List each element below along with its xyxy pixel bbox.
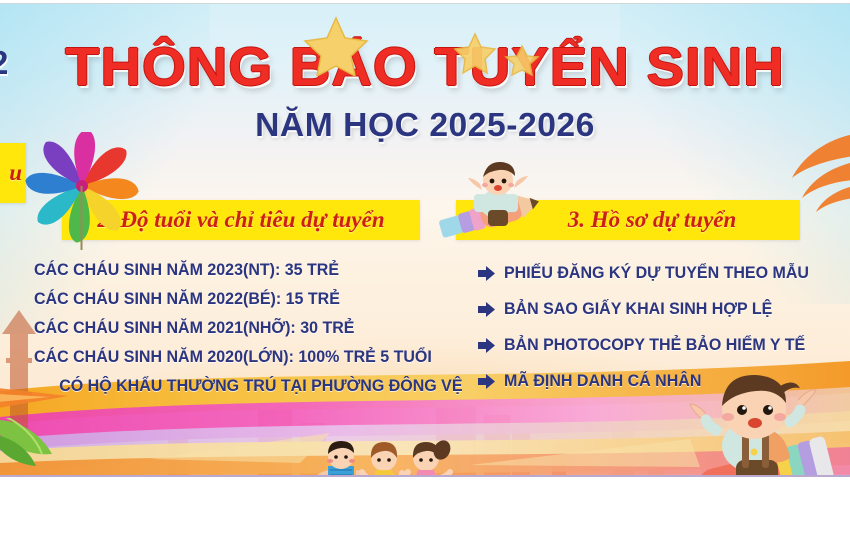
section-banner-documents: 3. Hồ sơ dự tuyển — [456, 200, 800, 240]
list-item: PHIẾU ĐĂNG KÝ DỰ TUYỂN THEO MẪU — [478, 258, 850, 289]
age-quota-line: CÁC CHÁU SINH NĂM 2020(LỚN): 100% TRẺ 5 … — [34, 343, 441, 372]
section-banner-1-label: u — [9, 160, 26, 186]
age-quota-line: CÁC CHÁU SINH NĂM 2021(NHỠ): 30 TRẺ — [34, 314, 441, 343]
section-banner-3-label: 3. Hồ sơ dự tuyển — [520, 207, 737, 233]
top-divider — [0, 3, 850, 4]
page-title: THÔNG BÁO TUYỂN SINH — [0, 40, 850, 94]
section-banner-1-cut: u — [0, 143, 26, 203]
age-quota-line: CÓ HỘ KHẨU THƯỜNG TRÚ TẠI PHƯỜNG ĐÔNG VỆ — [34, 372, 441, 401]
age-quota-line: CÁC CHÁU SINH NĂM 2023(NT): 35 TRẺ — [34, 256, 441, 285]
list-item-label: MÃ ĐỊNH DANH CÁ NHÂN — [504, 366, 701, 397]
section-banner-age-quota: 2. Độ tuổi và chỉ tiêu dự tuyển — [62, 200, 420, 240]
documents-list: PHIẾU ĐĂNG KÝ DỰ TUYỂN THEO MẪU BẢN SAO … — [478, 258, 850, 402]
page-subtitle: NĂM HỌC 2025-2026 — [0, 106, 850, 144]
list-item: BẢN PHOTOCOPY THẺ BẢO HIỂM Y TẾ — [478, 330, 850, 361]
arrow-right-icon — [478, 338, 495, 353]
list-item-label: PHIẾU ĐĂNG KÝ DỰ TUYỂN THEO MẪU — [504, 258, 809, 289]
arrow-right-icon — [478, 266, 495, 281]
list-item: MÃ ĐỊNH DANH CÁ NHÂN — [478, 366, 850, 397]
age-quota-list: CÁC CHÁU SINH NĂM 2023(NT): 35 TRẺ CÁC C… — [34, 256, 454, 401]
list-item-label: BẢN PHOTOCOPY THẺ BẢO HIỂM Y TẾ — [504, 330, 805, 361]
list-item: BẢN SAO GIẤY KHAI SINH HỢP LỆ — [478, 294, 850, 325]
poster-title-block: THÔNG BÁO TUYỂN SINH NĂM HỌC 2025-2026 — [0, 40, 850, 144]
admission-announcement-poster: THÔNG BÁO TUYỂN SINH NĂM HỌC 2025-2026 2… — [0, 0, 850, 539]
section-banner-2-label: 2. Độ tuổi và chỉ tiêu dự tuyển — [97, 207, 384, 233]
bottom-divider — [0, 475, 850, 477]
list-item-label: BẢN SAO GIẤY KHAI SINH HỢP LỆ — [504, 294, 772, 325]
arrow-right-icon — [478, 302, 495, 317]
bottom-white-strip — [0, 477, 850, 539]
cut-off-year-digit: 2 — [0, 44, 8, 82]
age-quota-line: CÁC CHÁU SINH NĂM 2022(BÉ): 15 TRẺ — [34, 285, 441, 314]
arrow-right-icon — [478, 374, 495, 389]
